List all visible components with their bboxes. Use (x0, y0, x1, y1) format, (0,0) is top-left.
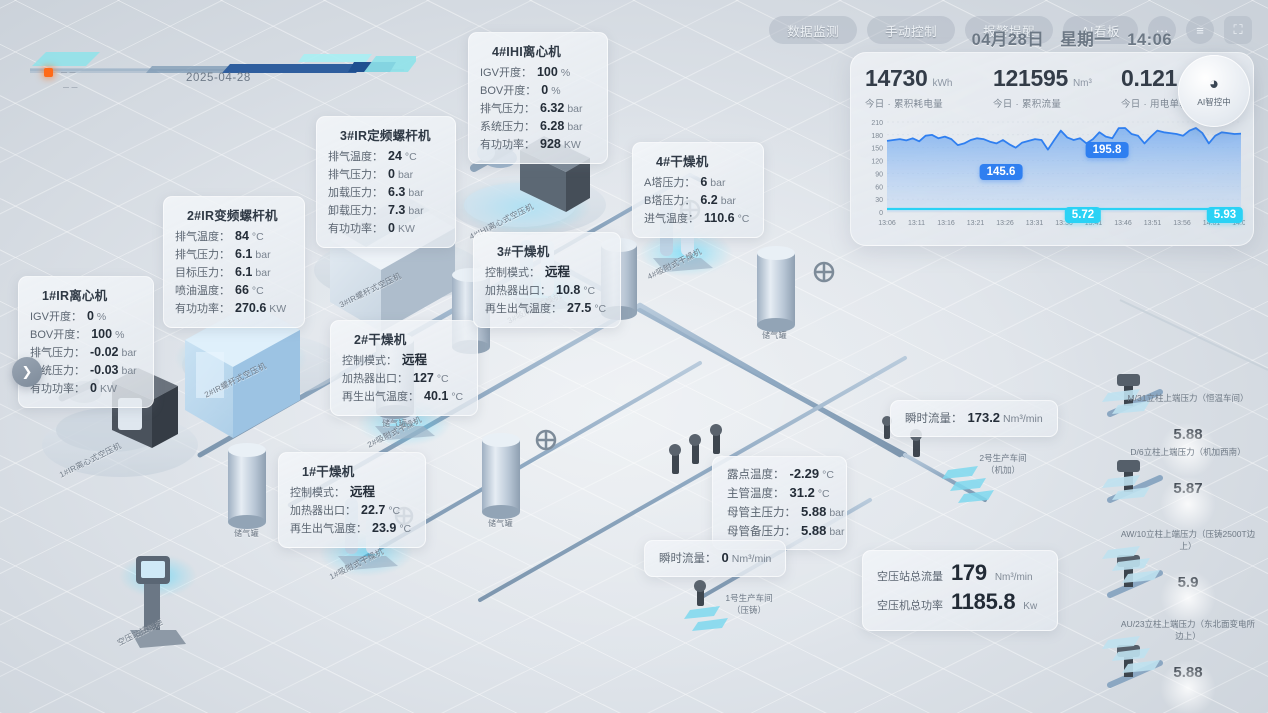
card-compressor-4[interactable]: 4#IHI离心机 IGV开度：100% BOV开度：0% 排气压力：6.32ba… (468, 32, 608, 164)
c4-v3: 6.28 (540, 118, 564, 135)
d1-u1: °C (388, 503, 400, 520)
c4-v1: 0 (541, 82, 548, 99)
eqlabel-tank-4: 储气罐 (762, 330, 787, 341)
c3-k4: 有功功率 (328, 221, 372, 238)
c4-k3: 系统压力 (480, 119, 524, 136)
d4-u1: bar (721, 193, 736, 210)
eqlabel-compressor-1: 1#IR离心式空压机 (58, 440, 124, 480)
fc0-k: 瞬时流量 (905, 411, 951, 428)
c1-k4: 有功功率 (30, 381, 74, 398)
c1-v3: -0.03 (90, 362, 119, 379)
d2-v2: 40.1 (424, 388, 448, 405)
c2-u1: bar (255, 247, 270, 264)
eqlabel-tank-3: 储气罐 (488, 518, 513, 529)
top-navigation[interactable]: 数据监测 手动控制 报警提醒 AI看板 ··· ≡ ⛶ (769, 16, 1252, 44)
c3-u1: bar (398, 167, 413, 184)
card-dryer-2[interactable]: 2#干燥机 控制模式：远程 加热器出口：127°C 再生出气温度：40.1°C (330, 320, 478, 416)
eqlabel-tank-2: 储气罐 (382, 418, 407, 429)
plant1-line1: 1号生产车间 (704, 592, 794, 604)
c1-u2: bar (122, 345, 137, 362)
c1-k2: 排气压力 (30, 345, 74, 362)
c1-k1: BOV开度 (30, 327, 75, 344)
d3-k0: 控制模式 (485, 265, 529, 282)
sum-k0: 空压站总流量 (877, 565, 943, 589)
card-compressor-3-title: 3#IR定频螺杆机 (328, 125, 444, 144)
nav-ai-board[interactable]: AI看板 (1063, 16, 1138, 44)
kpi-flow-unit: Nm³ (1073, 78, 1092, 89)
d1-u2: °C (399, 521, 411, 538)
sum-u1: Kw (1023, 595, 1037, 619)
c1-u0: % (97, 309, 106, 326)
eqlabel-tank-1: 储气罐 (234, 528, 259, 539)
svg-text:0: 0 (879, 210, 883, 217)
gauge-aw10-caption: AW/10立柱上端压力（压铸2500T边上） (1118, 528, 1258, 552)
glow-pad-control-cabinet (120, 555, 196, 597)
kpi-flow-value: 121595 (993, 65, 1068, 92)
legend-label-1: — — (61, 70, 76, 76)
trend-chart-svg: 030609012015018021013:0613:1113:1613:211… (859, 118, 1245, 230)
chart-annotation-0: 145.6 (980, 164, 1023, 180)
c2-v3: 66 (235, 282, 249, 299)
svg-text:30: 30 (875, 197, 883, 204)
kpi-energy-caption: 今日 · 累积耗电量 (865, 96, 993, 110)
d2-u1: °C (437, 371, 449, 388)
card-dryer-3[interactable]: 3#干燥机 控制模式：远程 加热器出口：10.8°C 再生出气温度：27.5°C (473, 232, 621, 328)
d2-k2: 再生出气温度 (342, 389, 408, 406)
c2-k3: 喷油温度 (175, 283, 219, 300)
card-compressor-2-title: 2#IR变频螺杆机 (175, 205, 293, 224)
card-dryer-2-title: 2#干燥机 (342, 329, 466, 348)
hp-k2: 母管主压力 (727, 505, 785, 522)
hp-v3: 5.88 (801, 522, 826, 539)
svg-text:90: 90 (875, 171, 883, 178)
c2-v2: 6.1 (235, 264, 252, 281)
svg-text:180: 180 (871, 133, 883, 140)
d3-u2: °C (594, 301, 606, 318)
c3-v1: 0 (388, 166, 395, 183)
station-summary-panel[interactable]: 空压站总流量 179 Nm³/min 空压机总功率 1185.8 Kw (862, 550, 1058, 631)
c3-k2: 加载压力 (328, 185, 372, 202)
gauge-au23[interactable]: AU/23立柱上端压力（东北面变电所边上） 5.88 (1118, 618, 1258, 681)
c4-v2: 6.32 (540, 100, 564, 117)
svg-text:210: 210 (871, 120, 883, 127)
card-dryer-4[interactable]: 4#干燥机 A塔压力：6bar B塔压力：6.2bar 进气温度：110.6°C (632, 142, 764, 238)
panel-expand-button[interactable]: ❯ (12, 357, 42, 387)
d3-u1: °C (583, 283, 595, 300)
fc1-u: Nm³/min (732, 551, 772, 568)
card-compressor-1-title: 1#IR离心机 (30, 285, 142, 304)
d1-v0: 远程 (350, 484, 375, 501)
c4-k1: BOV开度 (480, 83, 525, 100)
d4-u0: bar (710, 175, 725, 192)
kpi-flow: 121595 Nm³ 今日 · 累积流量 (993, 65, 1121, 110)
c3-k1: 排气压力 (328, 167, 372, 184)
nav-manual-control[interactable]: 手动控制 (867, 16, 955, 44)
card-compressor-3[interactable]: 3#IR定频螺杆机 排气温度：24°C 排气压力：0bar 加载压力：6.3ba… (316, 116, 456, 248)
kpi-energy: 14730 kWh 今日 · 累积耗电量 (865, 65, 993, 110)
c3-k0: 排气温度 (328, 149, 372, 166)
svg-text:13:56: 13:56 (1173, 220, 1191, 227)
eqlabel-compressor-3: 3#IR螺杆式空压机 (338, 270, 404, 310)
fc0-u: Nm³/min (1003, 411, 1043, 428)
kpi-specific-energy-value: 0.121 (1121, 65, 1177, 92)
c3-k3: 卸载压力 (328, 203, 372, 220)
card-compressor-2[interactable]: 2#IR变频螺杆机 排气温度：84°C 排气压力：6.1bar 目标压力：6.1… (163, 196, 305, 328)
flow-chip-workshop1[interactable]: 瞬时流量：0Nm³/min (644, 540, 786, 577)
c4-u4: KW (564, 137, 581, 154)
hp-v2: 5.88 (801, 503, 826, 520)
c2-v1: 6.1 (235, 246, 252, 263)
c3-u3: bar (408, 203, 423, 220)
svg-text:13:16: 13:16 (937, 220, 955, 227)
plant-label-workshop1: 1号生产车间 （压铸） (704, 592, 794, 616)
c4-u1: % (551, 83, 560, 100)
plant2-line1: 2号生产车间 (958, 452, 1048, 464)
hp-u2: bar (829, 505, 844, 522)
header-banner-graphic (24, 44, 416, 108)
d2-v1: 127 (413, 370, 434, 387)
fc1-v: 0 (722, 549, 729, 566)
fc0-v: 173.2 (968, 409, 1001, 426)
c4-k0: IGV开度 (480, 65, 521, 82)
kpi-energy-unit: kWh (932, 78, 952, 89)
banner-legend: — — — — (44, 68, 78, 99)
gauge-m31-caption: M/31立柱上端压力（恒温车间） (1118, 392, 1258, 404)
c2-k2: 目标压力 (175, 265, 219, 282)
c2-v0: 84 (235, 228, 249, 245)
flow-chip-workshop2[interactable]: 瞬时流量：173.2Nm³/min (890, 400, 1058, 437)
svg-text:13:06: 13:06 (878, 220, 896, 227)
c3-u4: KW (398, 221, 415, 238)
d4-v2: 110.6 (704, 210, 735, 227)
svg-text:150: 150 (871, 146, 883, 153)
ai-control-label: AI智控中 (1197, 96, 1231, 108)
chart-annotation-1: 195.8 (1086, 142, 1129, 158)
legend-marker-dot (44, 68, 53, 77)
c1-u3: bar (122, 363, 137, 380)
d2-k1: 加热器出口 (342, 371, 397, 388)
hp-k1: 主管温度 (727, 486, 773, 503)
c3-v4: 0 (388, 220, 395, 237)
svg-text:13:21: 13:21 (967, 220, 985, 227)
c1-v4: 0 (90, 380, 97, 397)
legend-label-2: — — (63, 85, 78, 91)
nav-alarm[interactable]: 报警提醒 (965, 16, 1053, 44)
c2-u2: bar (255, 265, 270, 282)
hp-k0: 露点温度 (727, 467, 773, 484)
d1-k0: 控制模式 (290, 485, 334, 502)
gauge-d6-caption: D/6立柱上端压力（机加西南） (1118, 446, 1258, 458)
d1-k1: 加热器出口 (290, 503, 345, 520)
card-dryer-1-title: 1#干燥机 (290, 461, 414, 480)
c1-v0: 0 (87, 308, 94, 325)
hp-v1: 31.2 (790, 484, 815, 501)
card-dryer-4-title: 4#干燥机 (644, 151, 752, 170)
chart-annotation-3: 5.93 (1207, 207, 1243, 223)
c4-k2: 排气压力 (480, 101, 524, 118)
c3-v0: 24 (388, 148, 402, 165)
c4-u0: % (561, 65, 570, 82)
c2-k0: 排气温度 (175, 229, 219, 246)
c3-u0: °C (405, 149, 417, 166)
d4-k2: 进气温度 (644, 211, 688, 228)
d2-u2: °C (451, 389, 463, 406)
c3-u2: bar (408, 185, 423, 202)
gauge-m31[interactable]: M/31立柱上端压力（恒温车间） 5.88 (1118, 392, 1258, 443)
c2-k1: 排气压力 (175, 247, 219, 264)
c4-v4: 928 (540, 136, 561, 153)
svg-text:13:11: 13:11 (908, 220, 925, 227)
c2-u0: °C (252, 229, 264, 246)
hp-u3: bar (829, 524, 844, 541)
d1-k2: 再生出气温度 (290, 521, 356, 538)
plant2-line2: （机加） (958, 464, 1048, 476)
d3-v0: 远程 (545, 264, 570, 281)
hamburger-icon[interactable]: ≡ (1186, 16, 1214, 44)
plant1-line2: （压铸） (704, 604, 794, 616)
d3-v1: 10.8 (556, 282, 580, 299)
c1-v1: 100 (91, 326, 112, 343)
c1-v2: -0.02 (90, 344, 119, 361)
d4-k0: A塔压力 (644, 175, 684, 192)
svg-text:13:51: 13:51 (1144, 220, 1162, 227)
dashboard-root: 2025-04-28 — — — — 数据监测 手动控制 报警提醒 AI看板 ·… (0, 0, 1268, 713)
d4-v1: 6.2 (700, 192, 717, 209)
sum-v1: 1185.8 (951, 590, 1015, 614)
eqlabel-control-cabinet: 空压站控制柜 (116, 616, 165, 648)
hp-k3: 母管备压力 (727, 524, 785, 541)
c3-v3: 7.3 (388, 202, 405, 219)
d1-v2: 23.9 (372, 520, 396, 537)
tank-6 (757, 246, 795, 332)
fc1-k: 瞬时流量 (659, 551, 705, 568)
d3-k1: 加热器出口 (485, 283, 540, 300)
c1-u4: KW (100, 381, 117, 398)
c4-u2: bar (567, 101, 582, 118)
svg-text:13:46: 13:46 (1114, 220, 1132, 227)
c1-k0: IGV开度 (30, 309, 71, 326)
sum-k1: 空压机总功率 (877, 594, 943, 618)
gauge-aw10[interactable]: AW/10立柱上端压力（压铸2500T边上） 5.9 (1118, 528, 1258, 591)
hp-u0: °C (822, 467, 834, 484)
gauge-d6[interactable]: D/6立柱上端压力（机加西南） 5.87 (1118, 446, 1258, 497)
card-compressor-1[interactable]: 1#IR离心机 IGV开度：0% BOV开度：100% 排气压力：-0.02ba… (18, 276, 154, 408)
plant-label-workshop2: 2号生产车间 （机加） (958, 452, 1048, 476)
d4-v0: 6 (700, 174, 707, 191)
hp-v0: -2.29 (790, 465, 820, 482)
trend-chart[interactable]: 030609012015018021013:0613:1113:1613:211… (859, 118, 1243, 230)
ellipsis-icon[interactable]: ··· (1148, 16, 1176, 44)
d4-u2: °C (738, 211, 750, 228)
sum-u0: Nm³/min (995, 566, 1033, 590)
tank-1 (228, 443, 266, 529)
kpi-flow-caption: 今日 · 累积流量 (993, 96, 1121, 110)
c2-u3: °C (252, 283, 264, 300)
d2-k0: 控制模式 (342, 353, 386, 370)
d4-k1: B塔压力 (644, 193, 684, 210)
fullscreen-icon[interactable]: ⛶ (1224, 16, 1252, 44)
hp-u1: °C (818, 486, 830, 503)
card-dryer-3-title: 3#干燥机 (485, 241, 609, 260)
c3-v2: 6.3 (388, 184, 405, 201)
kpi-energy-value: 14730 (865, 65, 927, 92)
c2-u4: KW (269, 301, 286, 318)
svg-text:13:26: 13:26 (996, 220, 1014, 227)
c4-u3: bar (567, 119, 582, 136)
c2-v4: 270.6 (235, 300, 266, 317)
svg-text:13:31: 13:31 (1026, 220, 1044, 227)
ai-robot-icon: ◕ (1209, 75, 1219, 92)
c4-k4: 有功功率 (480, 137, 524, 154)
svg-text:120: 120 (871, 159, 883, 166)
card-header-pipe[interactable]: 露点温度：-2.29°C 主管温度：31.2°C 母管主压力：5.88bar 母… (712, 456, 847, 550)
tank-4 (482, 433, 520, 519)
card-compressor-4-title: 4#IHI离心机 (480, 41, 596, 60)
ai-control-badge[interactable]: ◕ AI智控中 (1178, 55, 1250, 127)
c2-k4: 有功功率 (175, 301, 219, 318)
d3-k2: 再生出气温度 (485, 301, 551, 318)
c1-u1: % (115, 327, 124, 344)
c4-v0: 100 (537, 64, 558, 81)
d2-v0: 远程 (402, 352, 427, 369)
gauge-au23-caption: AU/23立柱上端压力（东北面变电所边上） (1118, 618, 1258, 642)
sum-v0: 179 (951, 561, 987, 585)
chart-annotation-2: 5.72 (1065, 207, 1101, 223)
card-dryer-1[interactable]: 1#干燥机 控制模式：远程 加热器出口：22.7°C 再生出气温度：23.9°C (278, 452, 426, 548)
d1-v1: 22.7 (361, 502, 385, 519)
nav-data-monitor[interactable]: 数据监测 (769, 16, 857, 44)
svg-text:60: 60 (875, 184, 883, 191)
d3-v2: 27.5 (567, 300, 591, 317)
